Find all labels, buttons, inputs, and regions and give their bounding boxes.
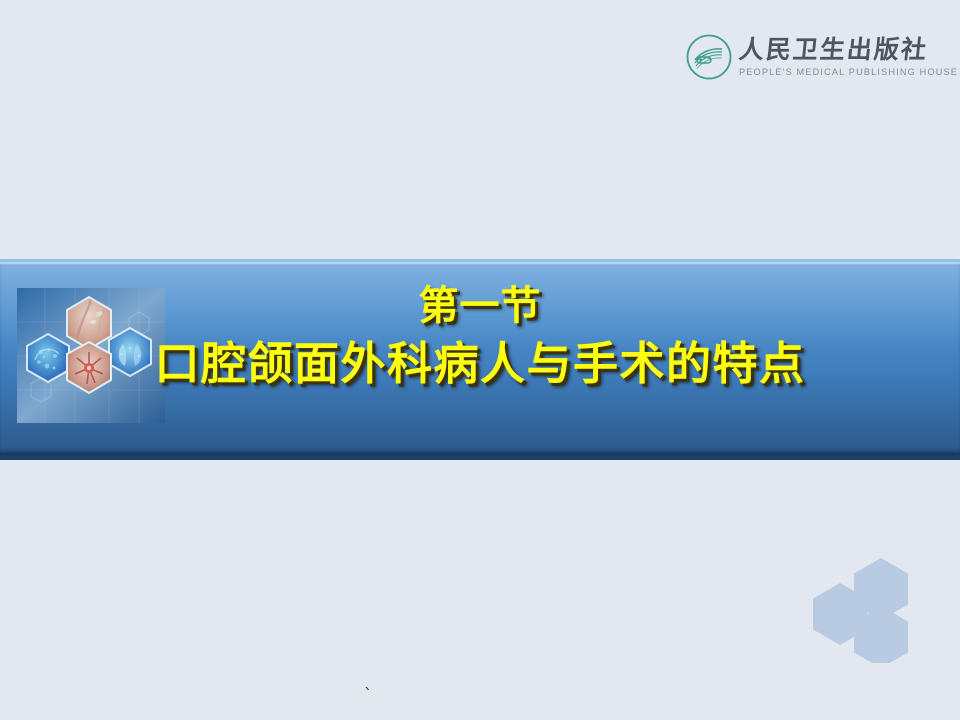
publisher-emblem-icon	[685, 33, 733, 81]
publisher-chinese-name: 人民卫生出版社	[738, 37, 960, 63]
title-banner: 第一节 口腔颌面外科病人与手术的特点	[0, 259, 960, 460]
decorative-hexagon-cluster	[805, 558, 935, 663]
medical-hexagon-collage-image	[17, 288, 165, 423]
publisher-english-name: PEOPLE'S MEDICAL PUBLISHING HOUSE	[739, 67, 958, 77]
stray-text-mark: `	[364, 687, 372, 703]
slide-canvas: 人民卫生出版社 PEOPLE'S MEDICAL PUBLISHING HOUS…	[0, 0, 960, 720]
publisher-logo: 人民卫生出版社 PEOPLE'S MEDICAL PUBLISHING HOUS…	[685, 28, 920, 86]
publisher-logo-text: 人民卫生出版社 PEOPLE'S MEDICAL PUBLISHING HOUS…	[739, 37, 958, 76]
